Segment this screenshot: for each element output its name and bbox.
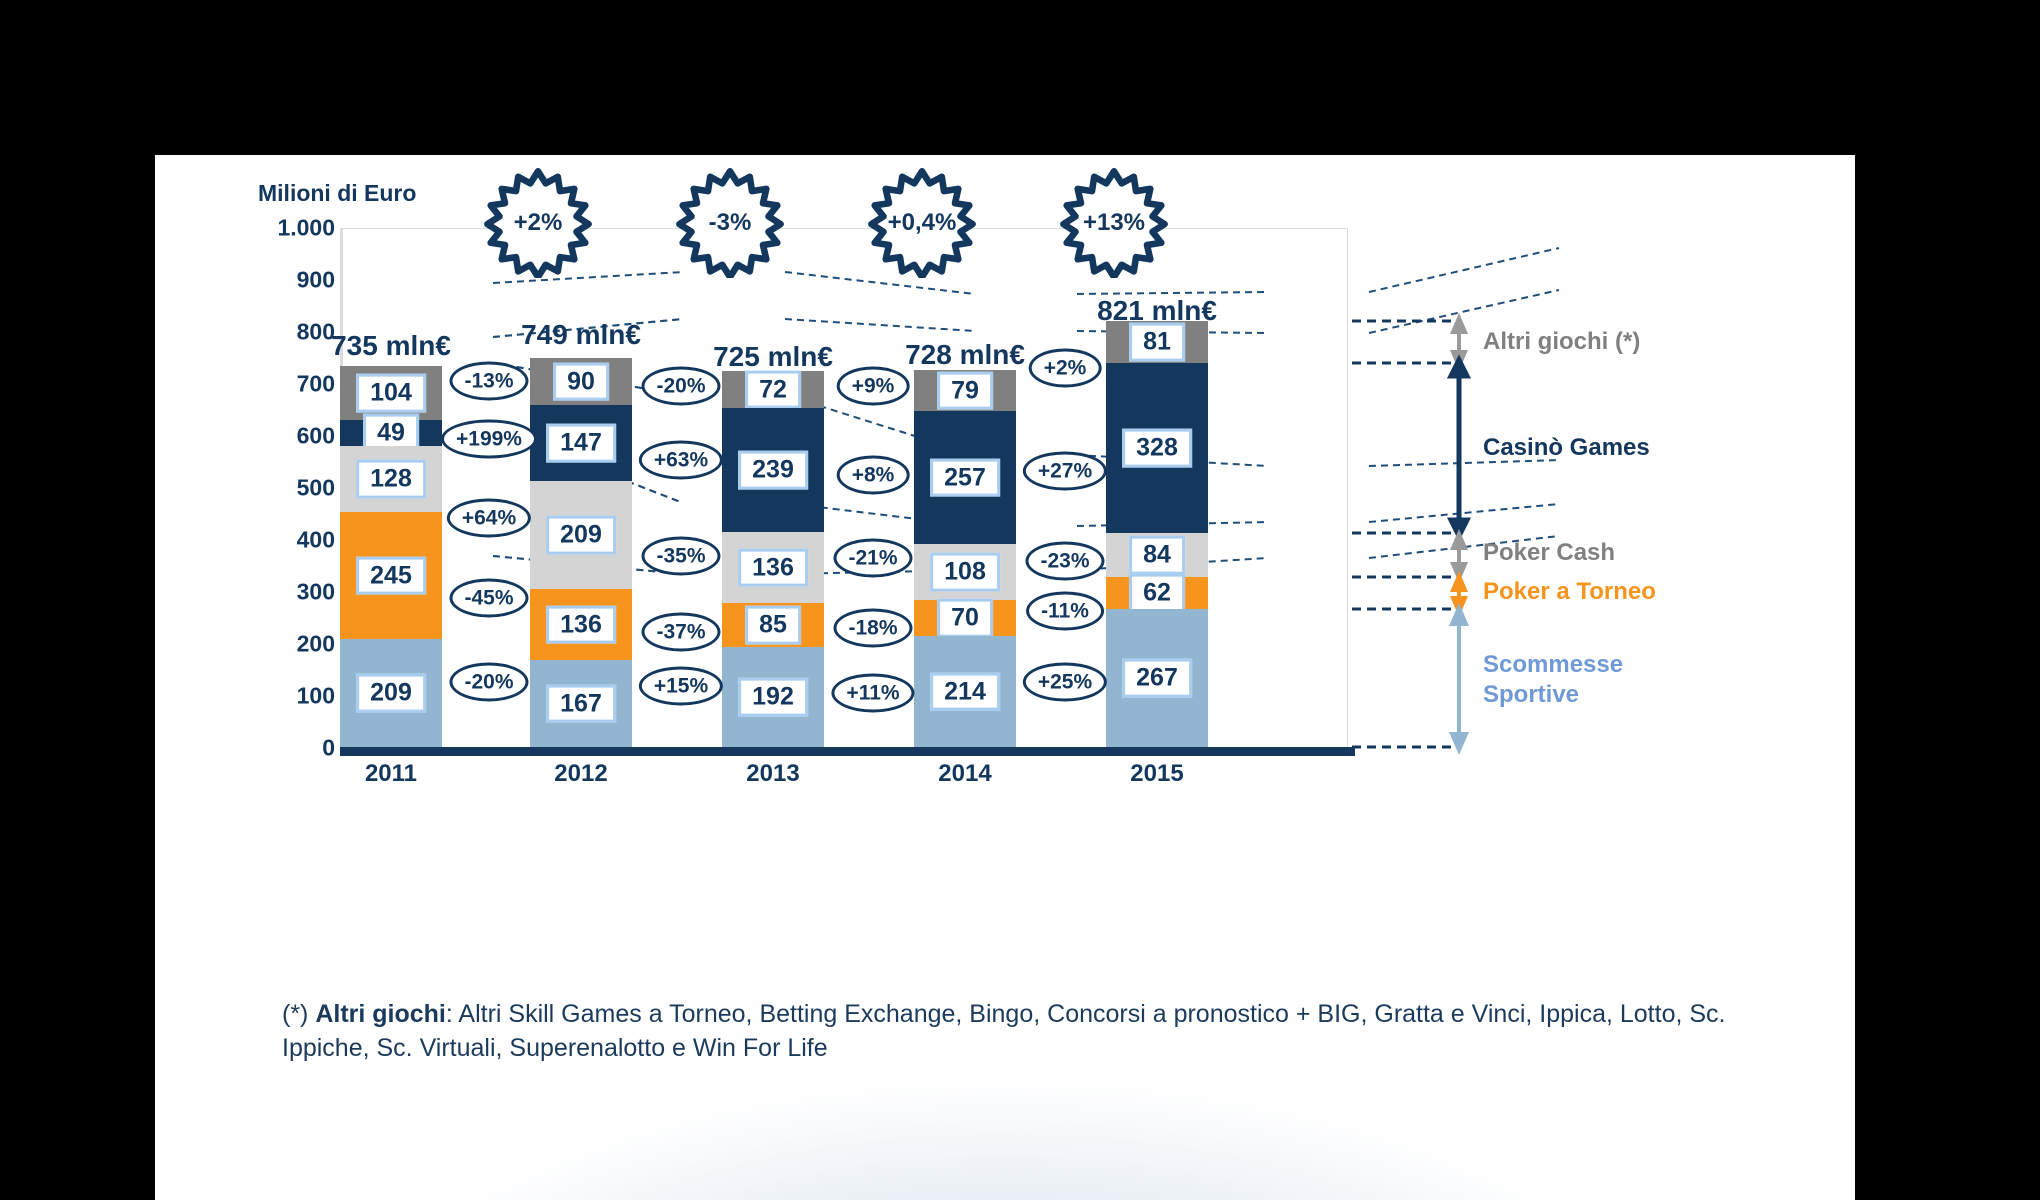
segment-casino-2014[interactable]: 257 [914, 411, 1016, 544]
value-label: 267 [1122, 659, 1192, 698]
segment-scommesse-2013[interactable]: 192 [722, 647, 824, 747]
legend-poker-cash: Poker Cash [1483, 539, 1615, 567]
x-tick-2014: 2014 [890, 760, 1040, 788]
value-label: 136 [738, 548, 808, 587]
value-label: 214 [930, 672, 1000, 711]
growth-badge-2014-2015: +13% [1059, 168, 1169, 278]
y-tick-500: 500 [225, 475, 335, 502]
segment-poker-cash-2013[interactable]: 136 [722, 532, 824, 603]
bar-2013[interactable]: 72 239 136 85 192 [722, 371, 824, 747]
segment-poker-cash-2015[interactable]: 84 [1106, 533, 1208, 577]
value-label: 85 [745, 606, 801, 645]
segment-altri-2014[interactable]: 79 [914, 370, 1016, 411]
segment-altri-2015[interactable]: 81 [1106, 321, 1208, 363]
segment-poker-cash-2011[interactable]: 128 [340, 446, 442, 512]
delta-ptorneo-2011-2012: -45% [449, 578, 528, 617]
segment-scommesse-2011[interactable]: 209 [340, 639, 442, 747]
delta-scom-2012-2013: +15% [639, 666, 723, 705]
segment-poker-cash-2014[interactable]: 108 [914, 544, 1016, 600]
segment-poker-torneo-2013[interactable]: 85 [722, 603, 824, 647]
segment-poker-torneo-2012[interactable]: 136 [530, 589, 632, 660]
growth-badge-2012-2013: -3% [675, 168, 785, 278]
segment-altri-2013[interactable]: 72 [722, 371, 824, 408]
value-label: 70 [937, 599, 993, 638]
delta-altri-2014-2015: +2% [1029, 348, 1102, 387]
segment-poker-cash-2012[interactable]: 209 [530, 481, 632, 589]
growth-badge-label: +0,4% [888, 209, 957, 237]
value-label: 84 [1129, 536, 1185, 575]
total-2015: 821 mln€ [1097, 295, 1217, 327]
legend-poker-torneo: Poker a Torneo [1483, 578, 1656, 606]
footnote-bold-term: Altri giochi [315, 1000, 446, 1028]
delta-pcash-2014-2015: -23% [1025, 541, 1104, 580]
value-label: 81 [1129, 323, 1185, 362]
segment-casino-2015[interactable]: 328 [1106, 363, 1208, 533]
value-label: 239 [738, 451, 808, 490]
y-axis-ticks: 1.000 900 800 700 600 500 400 300 200 10… [215, 155, 335, 855]
value-label: 62 [1129, 574, 1185, 613]
x-tick-2012: 2012 [506, 760, 656, 788]
delta-altri-2011-2012: -13% [449, 361, 528, 400]
growth-badge-2011-2012: +2% [483, 168, 593, 278]
x-tick-2011: 2011 [316, 760, 466, 788]
segment-altri-2012[interactable]: 90 [530, 358, 632, 405]
legend-scommesse-sportive: Scommesse Sportive [1483, 650, 1663, 710]
value-label: 104 [356, 374, 426, 413]
delta-casino-2013-2014: +8% [837, 455, 910, 494]
delta-altri-2013-2014: +9% [837, 366, 910, 405]
value-label: 167 [546, 684, 616, 723]
value-label: 128 [356, 460, 426, 499]
value-label: 147 [546, 424, 616, 463]
segment-scommesse-2012[interactable]: 167 [530, 660, 632, 747]
delta-scom-2011-2012: -20% [449, 662, 528, 701]
delta-ptorneo-2013-2014: -18% [833, 608, 912, 647]
segment-poker-torneo-2015[interactable]: 62 [1106, 577, 1208, 609]
value-label: 79 [937, 371, 993, 410]
delta-altri-2012-2013: -20% [641, 366, 720, 405]
segment-scommesse-2015[interactable]: 267 [1106, 609, 1208, 747]
y-tick-800: 800 [225, 319, 335, 346]
y-tick-400: 400 [225, 527, 335, 554]
footnote-body: : Altri Skill Games a Torneo, Betting Ex… [282, 1000, 1725, 1062]
delta-pcash-2013-2014: -21% [833, 538, 912, 577]
delta-pcash-2012-2013: -35% [641, 536, 720, 575]
y-tick-900: 900 [225, 267, 335, 294]
bar-2011[interactable]: 104 49 128 245 209 [340, 366, 442, 747]
legend-casino-games: Casinò Games [1483, 434, 1650, 462]
segment-altri-2011[interactable]: 104 [340, 366, 442, 420]
value-label: 209 [546, 516, 616, 555]
legend-altri-giochi: Altri giochi (*) [1483, 328, 1640, 356]
segment-casino-2012[interactable]: 147 [530, 405, 632, 481]
total-2014: 728 mln€ [905, 339, 1025, 371]
growth-badge-label: -3% [709, 209, 752, 237]
delta-scom-2014-2015: +25% [1023, 662, 1107, 701]
x-tick-2015: 2015 [1082, 760, 1232, 788]
bar-2015[interactable]: 81 328 84 62 267 [1106, 321, 1208, 747]
y-tick-0: 0 [225, 735, 335, 762]
y-tick-200: 200 [225, 631, 335, 658]
segment-casino-2011[interactable]: 49 [340, 420, 442, 446]
value-label: 209 [356, 674, 426, 713]
y-tick-700: 700 [225, 371, 335, 398]
segment-casino-2013[interactable]: 239 [722, 408, 824, 532]
y-tick-600: 600 [225, 423, 335, 450]
segment-poker-torneo-2014[interactable]: 70 [914, 600, 1016, 636]
bar-2012[interactable]: 90 147 209 136 167 [530, 358, 632, 747]
value-label: 108 [930, 553, 1000, 592]
growth-badge-label: +13% [1083, 209, 1145, 237]
delta-scom-2013-2014: +11% [831, 673, 914, 712]
value-label: 257 [930, 458, 1000, 497]
y-tick-100: 100 [225, 683, 335, 710]
y-tick-300: 300 [225, 579, 335, 606]
footnote: (*) Altri giochi: Altri Skill Games a To… [282, 998, 1782, 1066]
x-tick-2013: 2013 [698, 760, 848, 788]
delta-casino-2014-2015: +27% [1023, 451, 1107, 490]
growth-badge-2013-2014: +0,4% [867, 168, 977, 278]
delta-casino-2012-2013: +63% [639, 440, 723, 479]
total-2011: 735 mln€ [331, 330, 451, 362]
value-label: 72 [745, 370, 801, 409]
footnote-marker: (*) [282, 1000, 315, 1028]
delta-ptorneo-2012-2013: -37% [641, 612, 720, 651]
value-label: 328 [1122, 429, 1192, 468]
slide-canvas: Milioni di Euro 1.000 900 800 700 600 50… [155, 155, 1855, 1200]
delta-ptorneo-2014-2015: -11% [1026, 591, 1104, 630]
value-label: 245 [356, 556, 426, 595]
total-2013: 725 mln€ [713, 341, 833, 373]
y-tick-1000: 1.000 [225, 215, 335, 242]
segment-scommesse-2014[interactable]: 214 [914, 636, 1016, 747]
delta-pcash-2011-2012: +64% [447, 498, 531, 537]
total-2012: 749 mln€ [521, 319, 641, 351]
segment-poker-torneo-2011[interactable]: 245 [340, 512, 442, 639]
growth-badge-label: +2% [514, 209, 563, 237]
x-axis-baseline [340, 747, 1355, 756]
delta-casino-2011-2012: +199% [441, 419, 537, 458]
value-label: 136 [546, 605, 616, 644]
value-label: 192 [738, 678, 808, 717]
value-label: 90 [553, 362, 609, 401]
bar-2014[interactable]: 79 257 108 70 214 [914, 370, 1016, 747]
